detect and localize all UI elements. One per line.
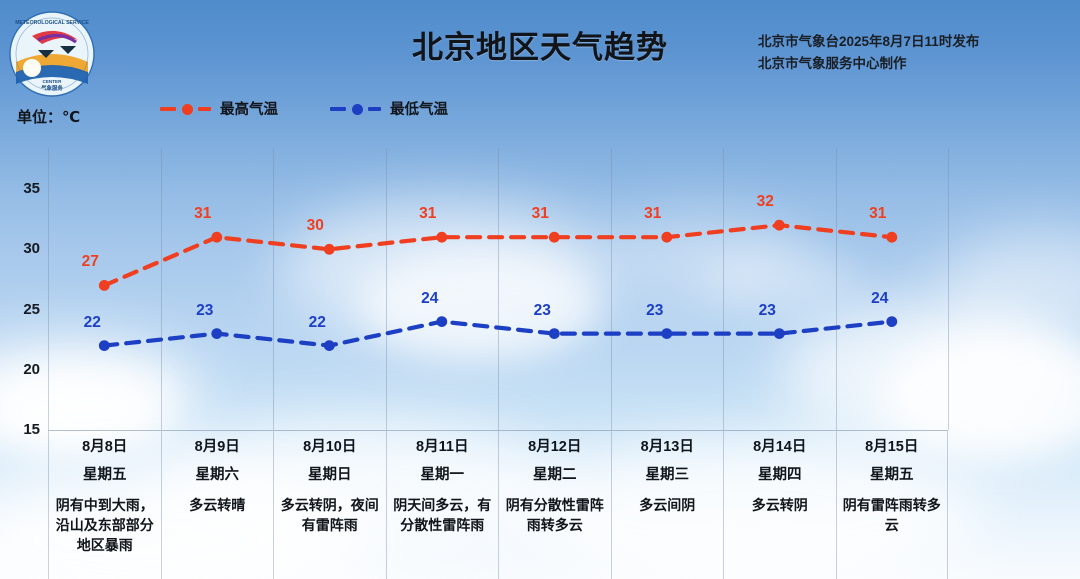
forecast-column[interactable]: 8月11日星期一阴天间多云，有分散性雷阵雨 bbox=[386, 431, 499, 579]
forecast-description: 阴有中到大雨，沿山及东部部分地区暴雨 bbox=[53, 495, 157, 555]
chart-gridline-vertical bbox=[611, 148, 612, 430]
forecast-description: 阴有分散性雷阵雨转多云 bbox=[503, 495, 607, 535]
forecast-date: 8月9日 bbox=[166, 438, 270, 457]
chart-gridline-vertical bbox=[723, 148, 724, 430]
data-label-low-temp: 24 bbox=[871, 290, 888, 308]
forecast-date: 8月14日 bbox=[728, 438, 832, 457]
y-axis-tick: 20 bbox=[0, 361, 40, 378]
chart-gridline-vertical bbox=[386, 148, 387, 430]
y-axis-tick: 15 bbox=[0, 421, 40, 438]
data-label-low-temp: 22 bbox=[309, 314, 326, 332]
forecast-column[interactable]: 8月9日星期六多云转晴 bbox=[161, 431, 274, 579]
y-axis-tick: 35 bbox=[0, 180, 40, 197]
data-label-high-temp: 27 bbox=[82, 253, 99, 271]
forecast-description: 多云转阴，夜间有雷阵雨 bbox=[278, 495, 382, 535]
forecast-weekday: 星期三 bbox=[616, 466, 720, 485]
forecast-weekday: 星期五 bbox=[53, 466, 157, 485]
data-label-high-temp: 31 bbox=[869, 205, 886, 223]
forecast-weekday: 星期一 bbox=[391, 466, 495, 485]
data-label-low-temp: 23 bbox=[759, 302, 776, 320]
forecast-weekday: 星期二 bbox=[503, 466, 607, 485]
legend-item-high-temp: 最高气温 bbox=[160, 98, 278, 119]
forecast-weekday: 星期六 bbox=[166, 466, 270, 485]
chart-gridline-vertical bbox=[948, 148, 949, 430]
legend-label-high-temp: 最高气温 bbox=[220, 98, 278, 119]
data-label-high-temp: 31 bbox=[419, 205, 436, 223]
forecast-description: 多云转晴 bbox=[166, 495, 270, 515]
data-label-low-temp: 22 bbox=[84, 314, 101, 332]
chart-gridline-vertical bbox=[498, 148, 499, 430]
data-label-low-temp: 23 bbox=[196, 302, 213, 320]
data-label-low-temp: 23 bbox=[534, 302, 551, 320]
forecast-description: 多云间阴 bbox=[616, 495, 720, 515]
forecast-date: 8月8日 bbox=[53, 438, 157, 457]
forecast-date: 8月15日 bbox=[841, 438, 944, 457]
forecast-table: 8月8日星期五阴有中到大雨，沿山及东部部分地区暴雨8月9日星期六多云转晴8月10… bbox=[48, 431, 948, 579]
legend-label-low-temp: 最低气温 bbox=[390, 98, 448, 119]
y-axis-tick: 30 bbox=[0, 240, 40, 257]
forecast-description: 多云转阴 bbox=[728, 495, 832, 515]
forecast-column[interactable]: 8月13日星期三多云间阴 bbox=[611, 431, 724, 579]
data-label-high-temp: 31 bbox=[644, 205, 661, 223]
legend-symbol-low-temp bbox=[330, 102, 385, 116]
forecast-column[interactable]: 8月14日星期四多云转阴 bbox=[723, 431, 836, 579]
issue-line-2: 北京市气象服务中心制作 bbox=[758, 53, 979, 75]
data-label-low-temp: 24 bbox=[421, 290, 438, 308]
chart-legend: 最高气温 最低气温 bbox=[160, 98, 448, 119]
forecast-date: 8月13日 bbox=[616, 438, 720, 457]
chart-gridline-vertical bbox=[836, 148, 837, 430]
data-label-high-temp: 31 bbox=[194, 205, 211, 223]
issue-line-1: 北京市气象台2025年8月7日11时发布 bbox=[758, 31, 979, 53]
data-label-low-temp: 23 bbox=[646, 302, 663, 320]
forecast-column[interactable]: 8月12日星期二阴有分散性雷阵雨转多云 bbox=[498, 431, 611, 579]
svg-text:气象服务: 气象服务 bbox=[40, 84, 63, 92]
chart-gridline-vertical bbox=[273, 148, 274, 430]
chart-gridline-vertical bbox=[161, 148, 162, 430]
forecast-weekday: 星期四 bbox=[728, 466, 832, 485]
y-axis-tick: 25 bbox=[0, 301, 40, 318]
weather-trend-infographic: METEOROLOGICAL SERVICE 气象服务 CENTER 北京地区天… bbox=[0, 0, 1080, 579]
forecast-weekday: 星期五 bbox=[841, 466, 944, 485]
data-label-high-temp: 30 bbox=[307, 217, 324, 235]
svg-text:CENTER: CENTER bbox=[43, 79, 63, 84]
data-label-high-temp: 32 bbox=[757, 193, 774, 211]
legend-item-low-temp: 最低气温 bbox=[330, 98, 448, 119]
forecast-date: 8月10日 bbox=[278, 438, 382, 457]
forecast-column[interactable]: 8月8日星期五阴有中到大雨，沿山及东部部分地区暴雨 bbox=[48, 431, 161, 579]
forecast-weekday: 星期日 bbox=[278, 466, 382, 485]
forecast-date: 8月12日 bbox=[503, 438, 607, 457]
forecast-description: 阴有雷阵雨转多云 bbox=[841, 495, 944, 535]
issue-info: 北京市气象台2025年8月7日11时发布 北京市气象服务中心制作 bbox=[758, 31, 979, 75]
chart-plot-area bbox=[48, 148, 948, 430]
forecast-date: 8月11日 bbox=[391, 438, 495, 457]
forecast-column[interactable]: 8月10日星期日多云转阴，夜间有雷阵雨 bbox=[273, 431, 386, 579]
unit-label: 单位：℃ bbox=[17, 106, 80, 127]
forecast-column[interactable]: 8月15日星期五阴有雷阵雨转多云 bbox=[836, 431, 949, 579]
chart-gridline-vertical bbox=[48, 148, 49, 430]
legend-symbol-high-temp bbox=[160, 102, 215, 116]
data-label-high-temp: 31 bbox=[532, 205, 549, 223]
forecast-description: 阴天间多云，有分散性雷阵雨 bbox=[391, 495, 495, 535]
